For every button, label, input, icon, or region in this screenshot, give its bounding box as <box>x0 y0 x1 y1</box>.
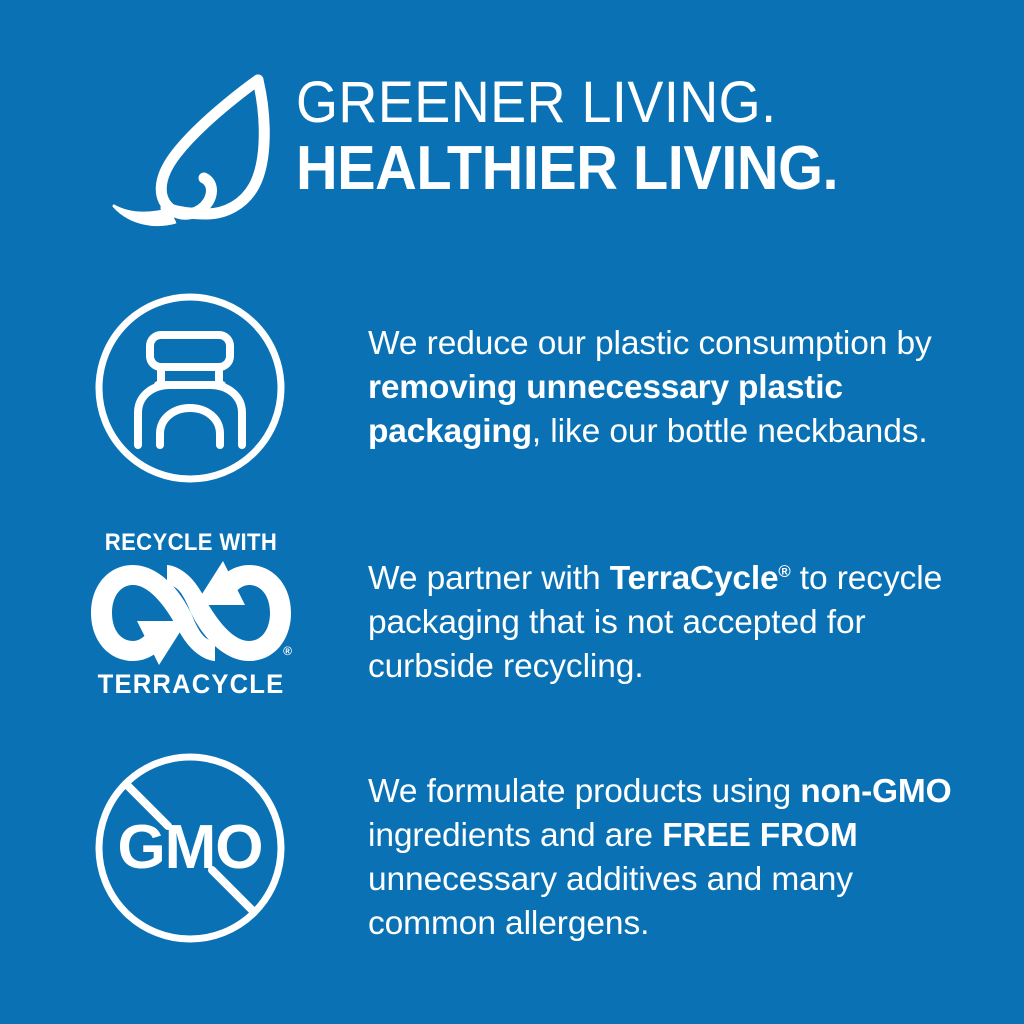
no-gmo-icon: GMO GMO <box>92 750 288 946</box>
text-part-bold: non-GMO <box>800 773 951 810</box>
terracycle-logo-icon: RECYCLE WITH ® TERRACYCLE <box>82 527 300 717</box>
text-part: ingredients and are <box>368 817 662 854</box>
text-part-bold: TerraCycle <box>610 560 779 597</box>
svg-text:GMO: GMO <box>117 813 262 882</box>
greener-living-infographic: GREENER LIVING. HEALTHIER LIVING. <box>0 0 1024 1024</box>
text-part-bold: FREE FROM <box>662 817 857 854</box>
benefit-text-terracycle: We partner with TerraCycle® to recycle p… <box>368 557 988 689</box>
benefit-row-gmo: GMO GMO We formulate products using non-… <box>0 750 1024 955</box>
text-part: We formulate products using <box>368 773 800 810</box>
text-part: We reduce our plastic consumption by <box>368 325 932 362</box>
headline-line-1: GREENER LIVING. <box>296 72 947 134</box>
benefit-text-plastic: We reduce our plastic consumption by rem… <box>368 322 988 454</box>
recycle-infinity-icon <box>87 559 295 667</box>
bottle-neckband-icon <box>92 290 288 486</box>
text-part-superscript: ® <box>778 562 790 581</box>
text-part: , like our bottle neckbands. <box>532 413 928 450</box>
benefit-row-terracycle: RECYCLE WITH ® TERRACYCLE <box>0 525 1024 720</box>
registered-trademark-mark: ® <box>283 645 292 657</box>
terracycle-logo: RECYCLE WITH ® TERRACYCLE <box>82 527 300 717</box>
headline-block: GREENER LIVING. HEALTHIER LIVING. <box>296 72 996 202</box>
header: GREENER LIVING. HEALTHIER LIVING. <box>0 62 1024 242</box>
text-part: unnecessary additives and many common al… <box>368 861 853 942</box>
benefit-row-plastic: We reduce our plastic consumption by rem… <box>0 290 1024 495</box>
headline-line-2: HEALTHIER LIVING. <box>296 136 947 202</box>
terracycle-top-label: RECYCLE WITH <box>91 529 292 557</box>
benefit-text-gmo: We formulate products using non-GMO ingr… <box>368 770 988 946</box>
terracycle-bottom-label: TERRACYCLE <box>87 669 294 700</box>
no-gmo-icon-label: GMO <box>288 750 289 751</box>
leaf-icon <box>108 74 288 234</box>
text-part: We partner with <box>368 560 610 597</box>
